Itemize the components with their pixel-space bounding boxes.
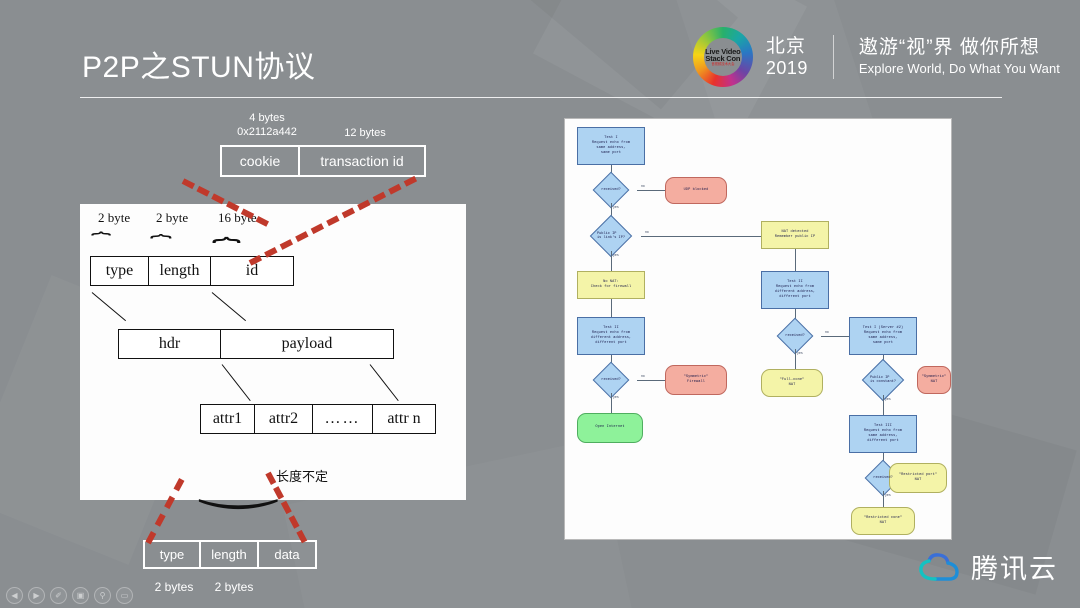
flow-node-no-nat: No NAT: Check for firewall (577, 271, 645, 299)
connector-line (92, 292, 126, 321)
flow-node-symmetric-firewall: "Symmetric" Firewall (665, 365, 727, 395)
stun-message-diagram: 4 bytes 0x2112a442 12 bytes cookie trans… (0, 100, 520, 608)
flow-node-udp-blocked: UDP blocked (665, 177, 727, 204)
flow-edge-label-yes: yes (613, 205, 619, 209)
flow-edge-label-no: no (825, 330, 829, 334)
flow-node-open-internet: Open Internet (577, 413, 643, 443)
flow-edge-label-yes: yes (885, 397, 891, 401)
packet-row: hdr payload (118, 329, 394, 359)
flow-edge (821, 336, 849, 337)
cookie-size-label: 4 bytes 0x2112a442 (232, 112, 302, 140)
flow-node-test1: Test I Request echo from same address, s… (577, 127, 645, 165)
flow-node-received-3: received? (857, 465, 909, 491)
tlv-size-type: 2 bytes (143, 580, 205, 594)
connector-line (222, 364, 251, 401)
flow-edge (641, 236, 781, 237)
conference-slogan: 遨游“视”界 做你所想 Explore World, Do What You W… (859, 36, 1060, 78)
zoom-button[interactable]: ⚲ (94, 587, 111, 604)
field-attr2: attr2 (255, 405, 313, 433)
flow-node-received-2-left: received? (585, 367, 637, 393)
flow-node-test2-right: Test II Request echo from different addr… (761, 271, 829, 309)
tlv-size-labels: 2 bytes 2 bytes (143, 580, 263, 594)
livevideostack-ring-logo: Live Video Stack Con 音视频技术大会 (693, 27, 753, 87)
transaction-id-cell: transaction id (300, 147, 424, 175)
flow-edge (611, 299, 612, 319)
brand-divider (833, 35, 834, 79)
flow-edge (637, 380, 665, 381)
flow-node-test2-left: Test II Request echo from different addr… (577, 317, 645, 355)
field-hdr: hdr (119, 330, 221, 358)
field-payload: payload (221, 330, 393, 358)
flow-edge-label-no: no (641, 184, 645, 188)
menu-button[interactable]: ▭ (116, 587, 133, 604)
nat-discovery-flowchart: Test I Request echo from same address, s… (564, 118, 952, 540)
tencent-cloud-logo: 腾讯云 (917, 547, 1058, 586)
tencent-cloud-text: 腾讯云 (971, 547, 1058, 586)
flow-node-symmetric-nat: "Symmetric" NAT (917, 366, 951, 394)
notes-button[interactable]: ▣ (72, 587, 89, 604)
conference-year: 2019 (766, 58, 808, 78)
flow-edge (883, 395, 884, 417)
tlv-size-length: 2 bytes (205, 580, 263, 594)
logo-line-3: 音视频技术大会 (705, 63, 740, 66)
flow-node-restricted-cone-nat: "Restricted cone" NAT (851, 507, 915, 535)
tlv-type: type (145, 542, 201, 567)
field-type: type (91, 257, 149, 285)
connector-line (370, 364, 399, 401)
tlv-length: length (201, 542, 259, 567)
cookie-cell: cookie (222, 147, 300, 175)
flow-edge (795, 349, 796, 371)
field-length: length (149, 257, 211, 285)
stun-header-row: type length id (90, 256, 294, 286)
cookie-transaction-boxes: cookie transaction id (220, 145, 426, 177)
flow-node-received-1: received? (585, 177, 637, 203)
flow-edge-label-yes: yes (797, 351, 803, 355)
conference-branding: Live Video Stack Con 音视频技术大会 北京 2019 遨游“… (693, 27, 1060, 87)
flow-edge (637, 190, 665, 191)
flow-node-received-2-right: received? (769, 323, 821, 349)
flow-node-nat-detected: NAT detected Remember public IP (761, 221, 829, 249)
previous-slide-button[interactable]: ◀ (6, 587, 23, 604)
flow-edge-label-no: no (645, 230, 649, 234)
field-attrn: attr n (373, 405, 435, 433)
connector-line (212, 292, 246, 321)
conference-city-year: 北京 2019 (766, 36, 808, 77)
flow-edge-label-yes: yes (885, 493, 891, 497)
field-ellipsis: …… (313, 405, 373, 433)
brace-attributes: ⏝ (198, 454, 279, 507)
next-slide-button[interactable]: ▶ (28, 587, 45, 604)
flow-node-full-cone-nat: "Full-cone" NAT (761, 369, 823, 397)
flow-edge-label-no: no (641, 374, 645, 378)
conference-city: 北京 (766, 36, 808, 57)
size-label-length: 2 byte (156, 210, 188, 226)
pen-tool-button[interactable]: ✐ (50, 587, 67, 604)
brace-type: ⏞ (91, 233, 111, 254)
tlv-data: data (259, 542, 315, 567)
slogan-chinese: 遨游“视”界 做你所想 (859, 36, 1060, 60)
flow-node-test3: Test III Request echo from same address,… (849, 415, 917, 453)
size-label-type: 2 byte (98, 210, 130, 226)
variable-length-note: 长度不定 (276, 466, 328, 485)
flow-edge (611, 393, 612, 415)
flow-edge-label-yes: yes (613, 395, 619, 399)
flow-node-public-ip-local: Public IP is link's IP? (581, 221, 641, 251)
flow-node-test1-server2: Test I (Server #2) Request echo from sam… (849, 317, 917, 355)
transaction-size-label: 12 bytes (325, 127, 405, 139)
slogan-english: Explore World, Do What You Want (859, 61, 1060, 78)
flow-edge-label-yes: yes (613, 253, 619, 257)
presentation-toolbar[interactable]: ◀ ▶ ✐ ▣ ⚲ ▭ (6, 587, 133, 604)
flow-edge (795, 249, 796, 273)
tlv-boxes: type length data (143, 540, 317, 569)
flow-node-public-ip-constant: Public IP is constant? (853, 365, 913, 395)
attributes-row: attr1 attr2 …… attr n (200, 404, 436, 434)
page-title: P2P之STUN协议 (82, 42, 315, 86)
title-divider (80, 97, 1002, 98)
brace-length: ⏞ (150, 234, 172, 258)
field-attr1: attr1 (201, 405, 255, 433)
tencent-cloud-icon (917, 552, 961, 582)
